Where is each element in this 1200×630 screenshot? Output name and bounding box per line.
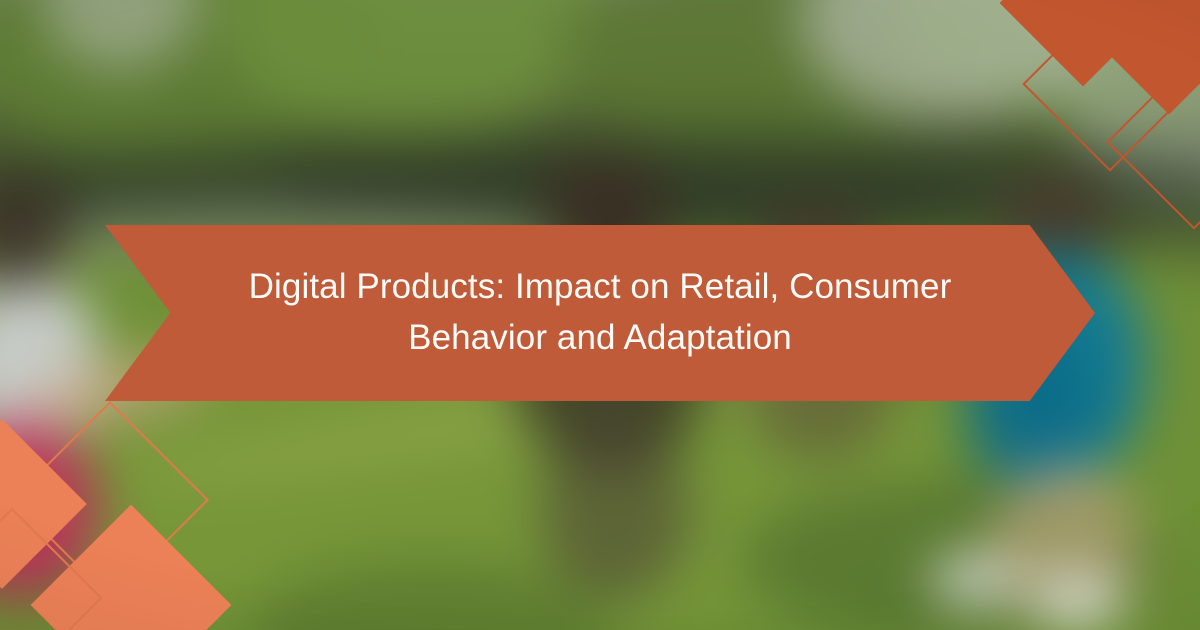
shoe-right: [1030, 570, 1125, 630]
shoe-left: [930, 550, 1020, 610]
title-ribbon: Digital Products: Impact on Retail, Cons…: [105, 225, 1095, 401]
child-center-legs: [540, 420, 690, 600]
page-title: Digital Products: Impact on Retail, Cons…: [215, 262, 985, 364]
banner-canvas: Digital Products: Impact on Retail, Cons…: [0, 0, 1200, 630]
